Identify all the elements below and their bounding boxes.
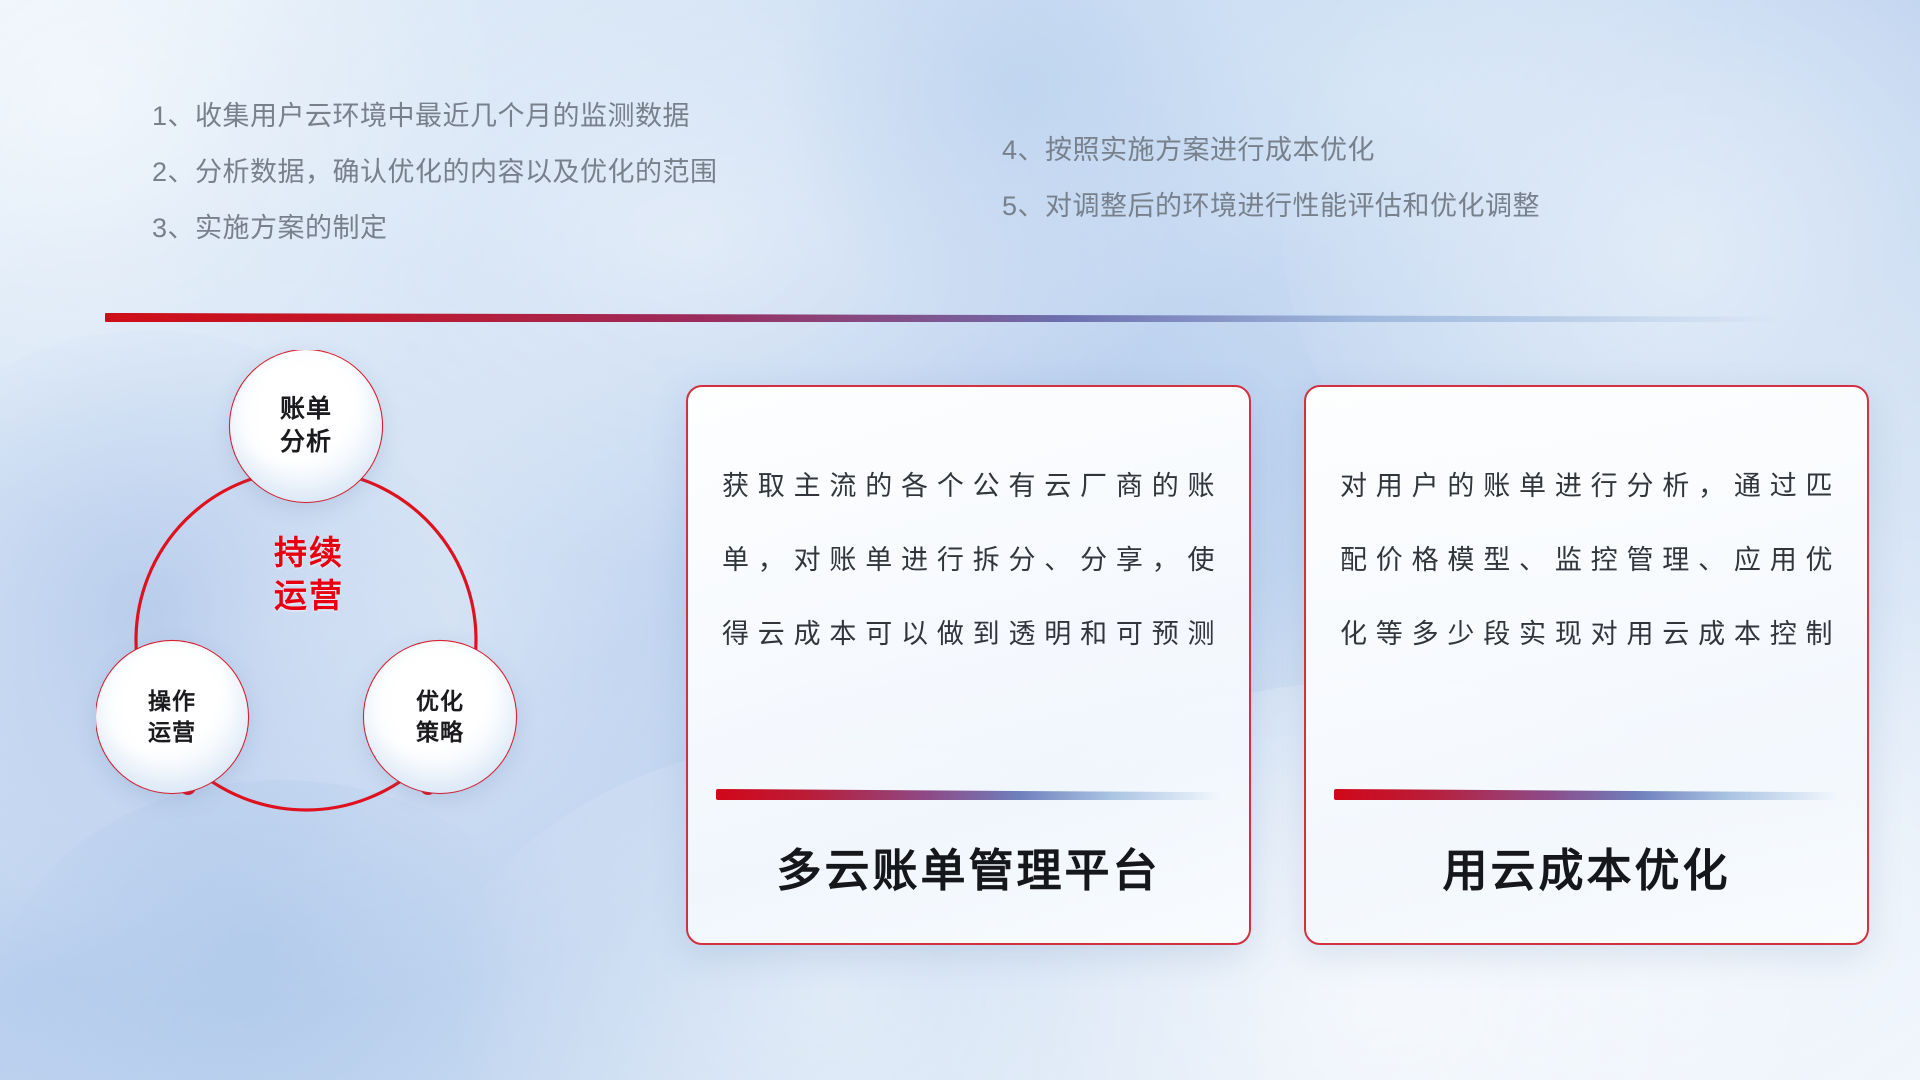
bubble-optimization-strategy-line2: 策略	[416, 717, 464, 748]
slide-canvas: 1、收集用户云环境中最近几个月的监测数据 2、分析数据，确认优化的内容以及优化的…	[0, 0, 1920, 1080]
card-cloud-cost-optimization[interactable]: 对用户的账单进行分析，通过匹 配价格模型、监控管理、应用优 化等多少段实现对用云…	[1304, 385, 1869, 945]
step-item-5: 5、对调整后的环境进行性能评估和优化调整	[1002, 178, 1540, 234]
bubble-operations-line1: 操作	[148, 686, 196, 717]
bubble-operations-line2: 运营	[148, 717, 196, 748]
card-1-body-line-3: 得云成本可以做到透明和可预测	[722, 597, 1215, 671]
card-2-body-line-2: 配价格模型、监控管理、应用优	[1340, 523, 1833, 597]
card-1-body-line-2: 单，对账单进行拆分、分享，使	[722, 523, 1215, 597]
steps-list-left: 1、收集用户云环境中最近几个月的监测数据 2、分析数据，确认优化的内容以及优化的…	[152, 88, 718, 256]
card-cloud-cost-optimization-body: 对用户的账单进行分析，通过匹 配价格模型、监控管理、应用优 化等多少段实现对用云…	[1306, 387, 1867, 789]
card-multicloud-billing-body: 获取主流的各个公有云厂商的账 单，对账单进行拆分、分享，使 得云成本可以做到透明…	[688, 387, 1249, 789]
step-item-1: 1、收集用户云环境中最近几个月的监测数据	[152, 88, 718, 144]
diagram-center-label-line1: 持续	[214, 531, 404, 574]
bubble-bill-analysis-line2: 分析	[280, 426, 332, 459]
step-item-3: 3、实施方案的制定	[152, 200, 718, 256]
continuous-operation-diagram: 账单 分析 操作 运营 优化 策略 持续 运营	[96, 350, 576, 860]
step-item-2: 2、分析数据，确认优化的内容以及优化的范围	[152, 144, 718, 200]
card-2-body-line-1: 对用户的账单进行分析，通过匹	[1340, 449, 1833, 523]
step-item-4: 4、按照实施方案进行成本优化	[1002, 122, 1540, 178]
bubble-optimization-strategy-line1: 优化	[416, 686, 464, 717]
card-multicloud-billing[interactable]: 获取主流的各个公有云厂商的账 单，对账单进行拆分、分享，使 得云成本可以做到透明…	[686, 385, 1251, 945]
bubble-operations[interactable]: 操作 运营	[96, 641, 248, 793]
section-divider	[105, 313, 1850, 322]
bubble-bill-analysis-line1: 账单	[280, 393, 332, 426]
steps-list-right: 4、按照实施方案进行成本优化 5、对调整后的环境进行性能评估和优化调整	[1002, 122, 1540, 234]
diagram-center-label: 持续 运营	[214, 531, 404, 617]
card-1-accent-rule	[716, 789, 1221, 800]
diagram-center-label-line2: 运营	[214, 574, 404, 617]
card-2-body-line-3: 化等多少段实现对用云成本控制	[1340, 597, 1833, 671]
card-1-title: 多云账单管理平台	[688, 800, 1249, 943]
card-1-body-line-1: 获取主流的各个公有云厂商的账	[722, 449, 1215, 523]
bubble-optimization-strategy[interactable]: 优化 策略	[364, 641, 516, 793]
card-2-accent-rule	[1334, 789, 1839, 800]
card-2-title: 用云成本优化	[1306, 800, 1867, 943]
bubble-bill-analysis[interactable]: 账单 分析	[230, 350, 382, 502]
